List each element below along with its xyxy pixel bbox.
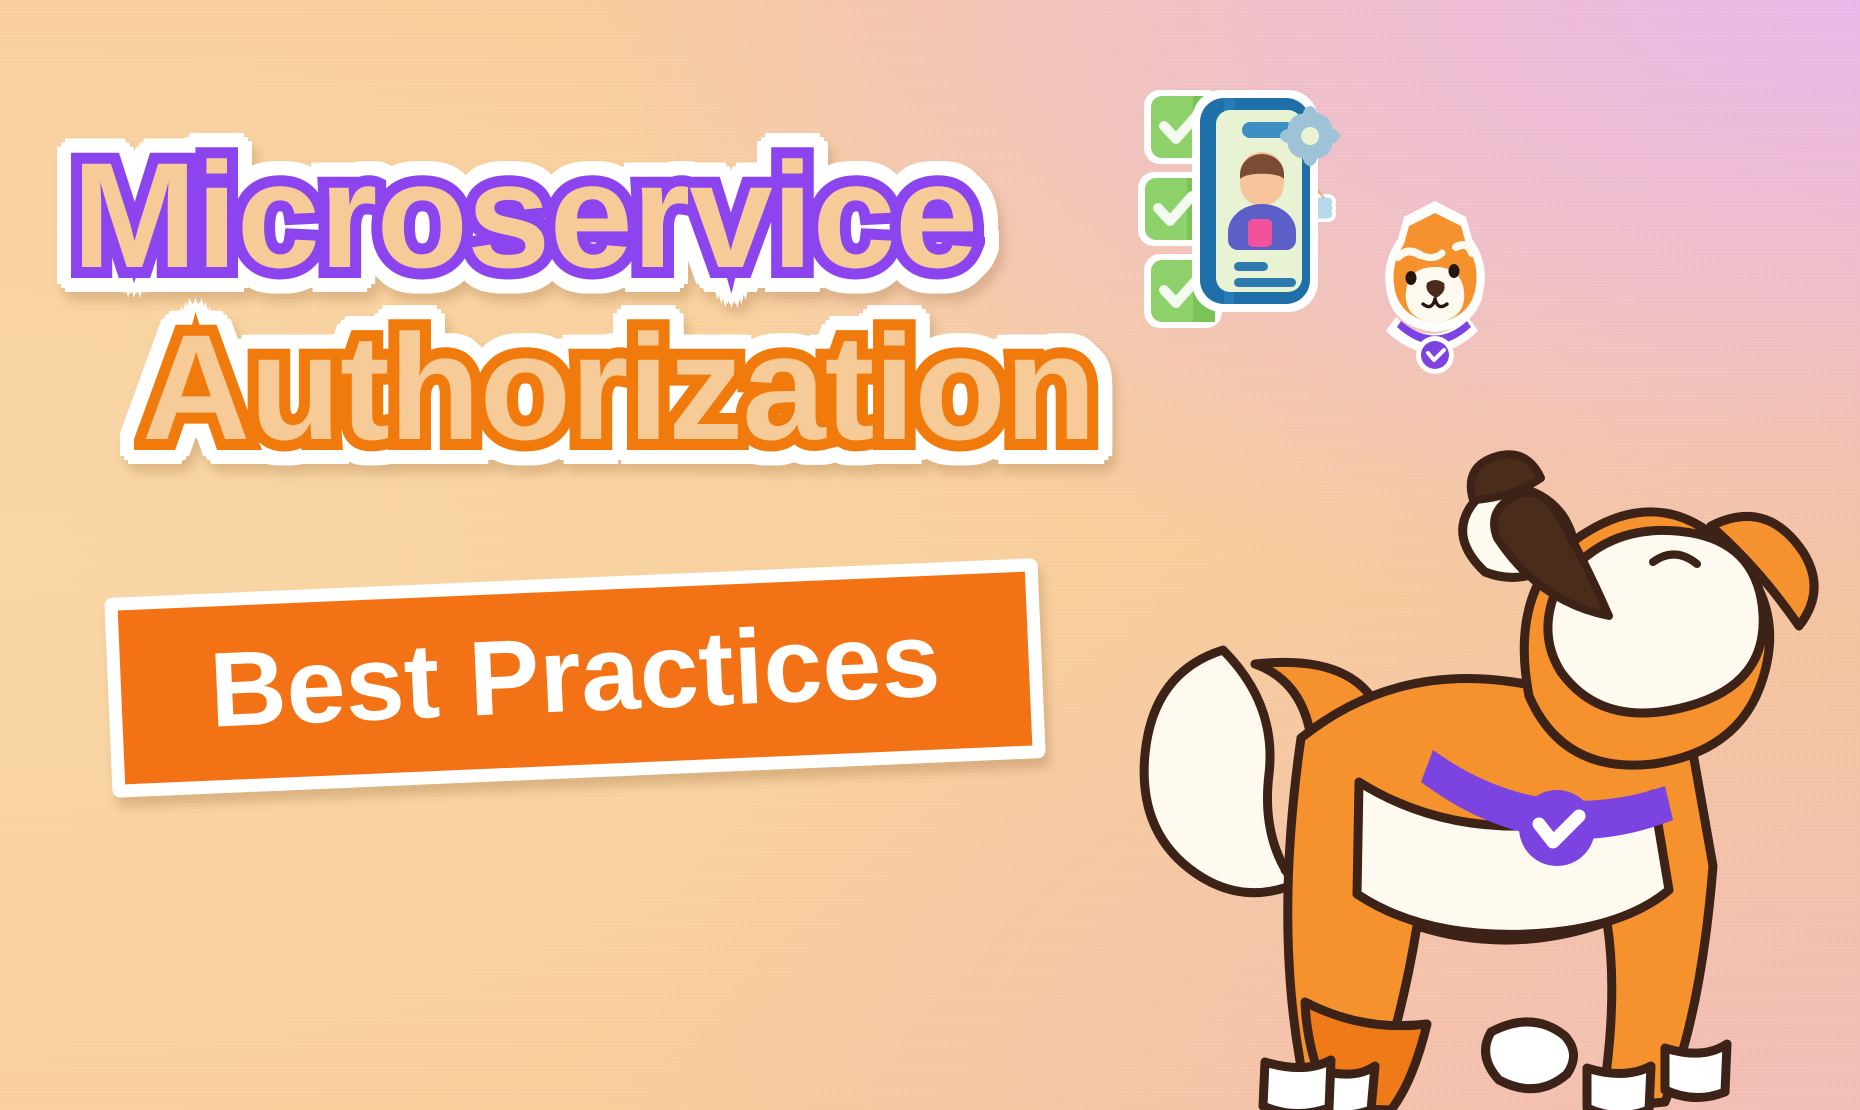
text-line-short <box>1234 262 1268 271</box>
banner-canvas: Microservice Authorization Best Practice… <box>0 0 1860 1110</box>
shiba-howling-illustration <box>1105 420 1860 1110</box>
phone-profile-illustration <box>1190 88 1350 338</box>
best-practices-ribbon: Best Practices <box>104 558 1046 798</box>
headline-line-2: Authorization <box>142 312 1192 462</box>
text-line-long <box>1234 278 1296 287</box>
headline-block: Microservice Authorization <box>72 140 1192 462</box>
shiba-face-icon <box>1368 195 1503 380</box>
ribbon-label: Best Practices <box>208 606 943 743</box>
headline-line-1: Microservice <box>72 140 1192 290</box>
